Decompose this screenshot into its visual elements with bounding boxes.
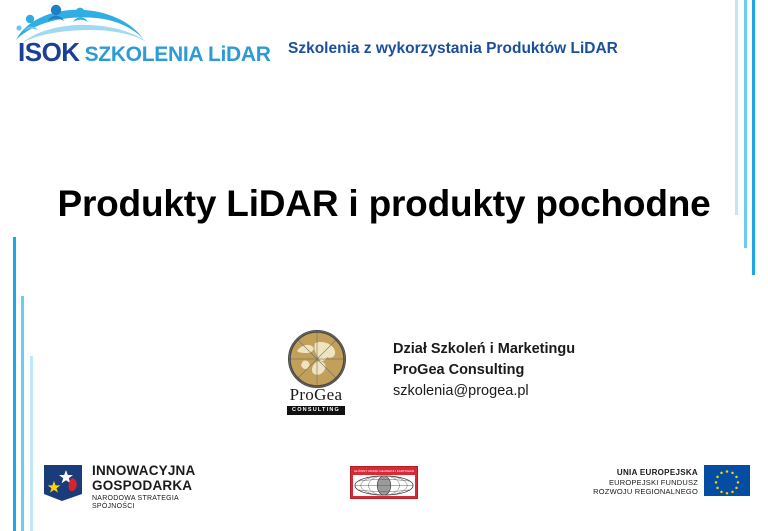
gugik-caption: GŁÓWNY URZĄD GEODEZJI I KARTOGRAFII (354, 468, 414, 474)
contact-company: ProGea Consulting (393, 360, 575, 381)
eu-flag-icon (704, 465, 750, 496)
innowacyjna-text: INNOWACYJNA GOSPODARKA NARODOWA STRATEGI… (92, 464, 217, 510)
eu-line1: UNIA EUROPEJSKA (593, 468, 698, 478)
progea-name: ProGea (280, 385, 352, 405)
progea-logo: ProGea CONSULTING (280, 330, 352, 412)
gugik-globe-icon (353, 475, 415, 496)
header-title: Szkolenia z wykorzystania Produktów LiDA… (288, 40, 618, 58)
contact-department: Dział Szkoleń i Marketingu (393, 339, 575, 360)
gugik-logo: GŁÓWNY URZĄD GEODEZJI I KARTOGRAFII (350, 466, 418, 499)
eu-funding-logo: UNIA EUROPEJSKA EUROPEJSKI FUNDUSZ ROZWO… (590, 463, 750, 507)
left-accent-line-3 (30, 356, 33, 531)
isok-brand-primary: ISOK (18, 37, 80, 67)
left-accent-line-1 (13, 237, 16, 531)
innowacyjna-gospodarka-logo: INNOWACYJNA GOSPODARKA NARODOWA STRATEGI… (42, 461, 217, 509)
eu-line3: ROZWOJU REGIONALNEGO (593, 487, 698, 496)
eu-text: UNIA EUROPEJSKA EUROPEJSKI FUNDUSZ ROZWO… (593, 468, 698, 496)
innowacyjna-stars-icon (42, 461, 86, 505)
slide-canvas: ISOKSZKOLENIA LiDAR Szkolenia z wykorzys… (0, 0, 768, 531)
right-accent-line-1 (752, 0, 755, 275)
isok-wordmark: ISOKSZKOLENIA LiDAR (18, 39, 271, 65)
left-accent-line-2 (21, 296, 24, 531)
isok-brand-secondary: SZKOLENIA LiDAR (85, 43, 271, 66)
innowacyjna-line3: NARODOWA STRATEGIA SPÓJNOŚCI (92, 495, 217, 510)
progea-globe-icon (288, 330, 346, 388)
page-title: Produkty LiDAR i produkty pochodne (0, 183, 768, 225)
innowacyjna-line1: INNOWACYJNA (92, 464, 217, 479)
progea-tagline: CONSULTING (287, 406, 345, 415)
eu-line2: EUROPEJSKI FUNDUSZ (593, 478, 698, 487)
isok-logo: ISOKSZKOLENIA LiDAR (8, 4, 258, 66)
presenter-contact-block: Dział Szkoleń i Marketingu ProGea Consul… (393, 339, 575, 402)
innowacyjna-line2: GOSPODARKA (92, 479, 217, 494)
contact-email[interactable]: szkolenia@progea.pl (393, 381, 575, 402)
